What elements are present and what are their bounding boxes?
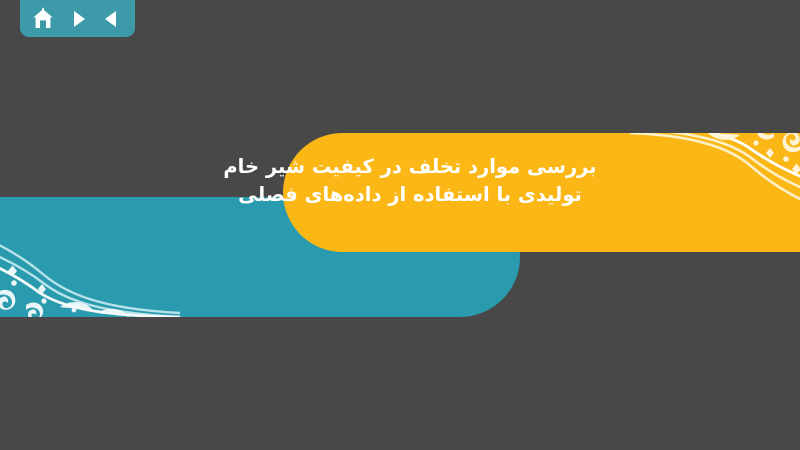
teal-arabesque-ornament xyxy=(0,197,180,317)
slide-title-line-1: بررسی موارد تخلف در کیفیت شیر خام xyxy=(200,153,620,181)
slide-title: بررسی موارد تخلف در کیفیت شیر خام تولیدی… xyxy=(200,153,620,208)
navigation-bar xyxy=(20,0,135,37)
presentation-slide: بررسی موارد تخلف در کیفیت شیر خام تولیدی… xyxy=(0,0,800,450)
yellow-arabesque-ornament xyxy=(630,133,800,243)
home-icon xyxy=(31,7,55,31)
slide-title-line-2: تولیدی با استفاده از داده‌های فصلی xyxy=(200,181,620,209)
next-slide-icon xyxy=(67,8,89,30)
previous-slide-button[interactable] xyxy=(98,5,126,33)
previous-slide-icon xyxy=(101,8,123,30)
next-slide-button[interactable] xyxy=(64,5,92,33)
home-button[interactable] xyxy=(29,5,57,33)
